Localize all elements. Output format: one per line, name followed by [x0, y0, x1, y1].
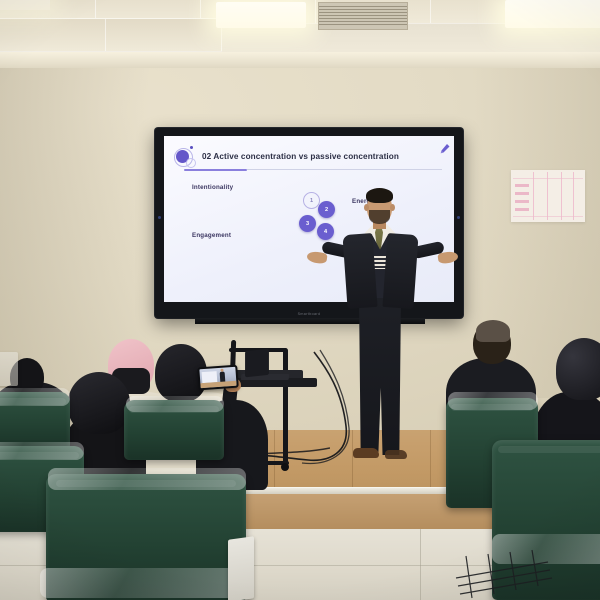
- attendee-man-suit-hair: [476, 320, 510, 342]
- smartphone-recording[interactable]: [197, 365, 239, 391]
- presenter-ear-right: [390, 204, 395, 211]
- phone-screen: [199, 367, 236, 388]
- hvac-ceiling-vent: [318, 2, 408, 30]
- attendee-black-hijab-head: [68, 372, 130, 434]
- slide-label-engagement: Engagement: [192, 232, 231, 239]
- seat-plastic-wrap: [40, 568, 250, 598]
- attendee-patterned-hijab-head: [556, 338, 600, 400]
- ceiling-panel-light: [216, 2, 306, 28]
- presenter-legs: [359, 295, 401, 455]
- folding-tablet-arm[interactable]: [228, 536, 254, 600]
- presenter-hair: [366, 188, 393, 203]
- ceiling-panel-light: [0, 0, 50, 10]
- seat-plastic-wrap: [0, 442, 84, 460]
- laptop-screen[interactable]: [245, 349, 269, 378]
- display-sensor-right: [457, 216, 460, 219]
- lecture-hall-photo: 02 Active concentration vs passive conce…: [0, 0, 600, 600]
- title-underline: [247, 169, 442, 170]
- circle-logo-icon: [174, 145, 196, 167]
- cart-caster: [281, 463, 289, 471]
- pencil-icon[interactable]: [439, 142, 451, 156]
- seat-plastic-wrap: [0, 388, 70, 406]
- cart-frame: [283, 348, 288, 466]
- presenter-shoe-left: [353, 448, 379, 458]
- display-sensor-left: [158, 216, 161, 219]
- title-underline-accent: [184, 169, 247, 171]
- slide-header: 02 Active concentration vs passive conce…: [174, 144, 444, 168]
- pink-grid-poster: [511, 170, 585, 222]
- presenter-beard: [369, 210, 390, 224]
- seat-plastic-wrap: [492, 534, 600, 564]
- slide-title: 02 Active concentration vs passive conce…: [202, 152, 399, 161]
- presenter-jacket-right: [382, 233, 418, 309]
- seat-plastic-wrap: [448, 392, 538, 410]
- presenter-ear-left: [364, 204, 369, 211]
- presenter-jacket-left: [342, 233, 377, 309]
- ceiling-tile: [105, 18, 222, 52]
- folding-tablet-arm[interactable]: [0, 352, 18, 386]
- ceiling-panel-light: [505, 0, 600, 28]
- presenter-shoe-right: [385, 450, 407, 459]
- slide-node-3: 3: [299, 215, 316, 232]
- ceiling-tile: [0, 18, 112, 52]
- auditorium-seat[interactable]: [492, 440, 600, 600]
- presenter-speaker: [325, 182, 445, 482]
- seat-plastic-wrap: [126, 396, 224, 412]
- seat-plastic-wrap: [48, 468, 246, 490]
- phone-screen-floor: [200, 381, 236, 388]
- slide-label-intentionality: Intentionality: [192, 184, 233, 191]
